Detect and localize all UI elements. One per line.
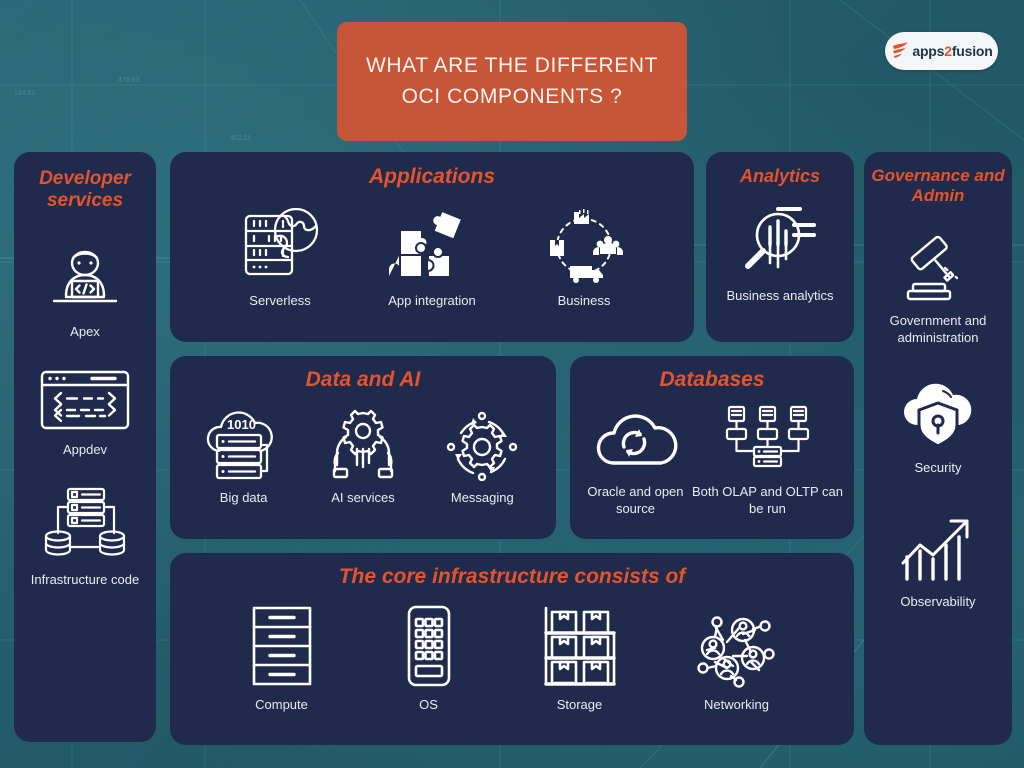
puzzle-pieces-icon — [386, 204, 478, 284]
svg-text:402.11: 402.11 — [230, 135, 251, 142]
tile-apex-label: Apex — [70, 324, 100, 341]
tile-messaging[interactable]: Messaging — [439, 405, 525, 507]
cloud-shield-lock-icon — [895, 381, 981, 451]
logo-text-fusion: fusion — [952, 43, 993, 59]
panel-data-and-ai-title: Data and AI — [170, 368, 556, 393]
svg-text:1010: 1010 — [227, 417, 256, 432]
applications-items: Serverless — [170, 204, 694, 310]
tile-government-administration-label: Government and administration — [864, 313, 1012, 347]
gavel-icon — [895, 232, 981, 304]
logo-swoosh-icon — [890, 40, 910, 62]
panel-core-infrastructure-title: The core infrastructure consists of — [170, 565, 854, 590]
tile-security[interactable]: Security — [895, 381, 981, 477]
tile-appdev-label: Appdev — [63, 442, 107, 459]
tile-app-integration[interactable]: App integration — [386, 204, 478, 310]
developer-laptop-icon — [42, 243, 128, 315]
device-keypad-icon — [391, 604, 467, 688]
tile-serverless-label: Serverless — [249, 293, 310, 310]
panel-core-infrastructure: The core infrastructure consists of Comp… — [170, 553, 854, 745]
tile-ai-services-label: AI services — [331, 490, 395, 507]
tile-business-analytics[interactable]: Business analytics — [727, 201, 834, 305]
panel-governance-and-admin-title: Governance and Admin — [864, 166, 1012, 206]
svg-text:134.61: 134.61 — [14, 90, 36, 97]
developer-services-items: Apex — [14, 213, 156, 589]
logo-text-apps: apps — [912, 43, 944, 59]
databases-items: Oracle and open source — [570, 403, 854, 518]
supply-chain-circle-icon — [538, 204, 630, 284]
tile-ai-services[interactable]: AI services — [320, 405, 406, 507]
tile-storage-label: Storage — [557, 697, 603, 714]
tile-apex[interactable]: Apex — [42, 243, 128, 341]
cloud-binary-server-icon: 1010 — [201, 405, 287, 481]
tile-infrastructure-code[interactable]: Infrastructure code — [31, 485, 139, 589]
tile-os-label: OS — [419, 697, 438, 714]
tile-networking[interactable]: Networking — [693, 604, 781, 714]
tile-observability-label: Observability — [900, 594, 975, 611]
tile-government-administration[interactable]: Government and administration — [864, 232, 1012, 347]
tile-app-integration-label: App integration — [388, 293, 475, 310]
growth-chart-arrow-icon — [893, 511, 983, 585]
panel-applications-title: Applications — [170, 165, 694, 190]
tile-serverless[interactable]: Serverless — [234, 204, 326, 310]
panel-governance-and-admin: Governance and Admin Government and admi… — [864, 152, 1012, 745]
tile-business-analytics-label: Business analytics — [727, 288, 834, 305]
panel-developer-services: Developer services Apex — [14, 152, 156, 742]
panel-analytics-title: Analytics — [706, 166, 854, 187]
tile-business[interactable]: Business — [538, 204, 630, 310]
analytics-items: Business analytics — [706, 201, 854, 305]
tile-messaging-label: Messaging — [451, 490, 514, 507]
data-and-ai-items: 1010 Big data — [170, 405, 556, 507]
tile-observability[interactable]: Observability — [893, 511, 983, 611]
tile-security-label: Security — [915, 460, 962, 477]
gear-cycle-arrows-icon — [439, 405, 525, 481]
tile-compute-label: Compute — [255, 697, 308, 714]
logo-text-two: 2 — [944, 43, 952, 59]
distributed-nodes-server-icon — [717, 403, 817, 475]
magnifier-bar-chart-icon — [734, 201, 826, 279]
svg-text:478.93: 478.93 — [118, 77, 140, 84]
tile-big-data-label: Big data — [220, 490, 268, 507]
tile-infrastructure-code-label: Infrastructure code — [31, 572, 139, 589]
tile-oracle-open-source[interactable]: Oracle and open source — [580, 403, 691, 518]
tile-compute[interactable]: Compute — [244, 604, 320, 714]
tile-big-data[interactable]: 1010 Big data — [201, 405, 287, 507]
server-globe-icon — [234, 204, 326, 284]
tile-os[interactable]: OS — [391, 604, 467, 714]
panel-databases: Databases Oracle and open source — [570, 356, 854, 539]
server-database-icon — [42, 485, 128, 563]
panel-databases-title: Databases — [570, 368, 854, 393]
panel-developer-services-title: Developer services — [14, 168, 156, 213]
panel-analytics: Analytics Business analytic — [706, 152, 854, 342]
tile-olap-oltp[interactable]: Both OLAP and OLTP can be run — [691, 403, 844, 518]
code-window-icon — [37, 367, 133, 433]
tile-olap-oltp-label: Both OLAP and OLTP can be run — [691, 484, 844, 518]
panel-data-and-ai: Data and AI 1010 — [170, 356, 556, 539]
apps2fusion-logo[interactable]: apps2fusion — [885, 32, 998, 70]
tile-appdev[interactable]: Appdev — [37, 367, 133, 459]
people-network-icon — [693, 604, 781, 688]
core-infrastructure-items: Compute — [170, 604, 854, 714]
hands-gear-icon — [320, 405, 406, 481]
tile-oracle-open-source-label: Oracle and open source — [580, 484, 691, 518]
tile-networking-label: Networking — [704, 697, 769, 714]
server-rack-icon — [244, 604, 320, 688]
tile-business-label: Business — [558, 293, 611, 310]
logo-text: apps2fusion — [912, 43, 992, 59]
title-banner: WHAT ARE THE DIFFERENT OCI COMPONENTS ? — [337, 22, 687, 141]
page-title: WHAT ARE THE DIFFERENT OCI COMPONENTS ? — [337, 51, 687, 112]
boxes-shelf-icon — [538, 604, 622, 688]
cloud-sync-icon — [587, 403, 683, 475]
panel-applications: Applications — [170, 152, 694, 342]
tile-storage[interactable]: Storage — [538, 604, 622, 714]
governance-items: Government and administration Security — [864, 206, 1012, 611]
